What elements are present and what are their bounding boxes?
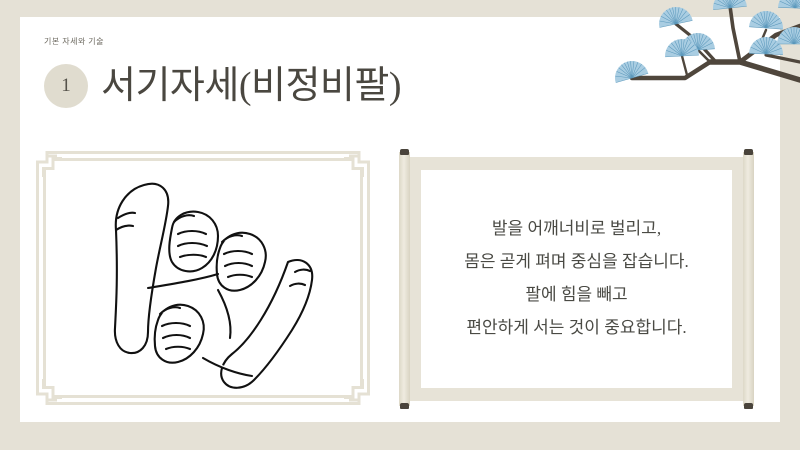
frame-line-outer-left: [36, 161, 39, 395]
description-text: 발을 어깨너비로 벌리고, 몸은 곧게 펴며 중심을 잡습니다. 팔에 힘을 빼…: [425, 212, 728, 345]
step-number-badge: 1: [44, 64, 88, 108]
post-cap-top-left-icon: [400, 149, 409, 155]
frame-line-inner-right: [360, 167, 363, 389]
board-post-right: [743, 152, 754, 406]
slide-root: 기본 자세와 기술 1 서기자세(비정비팔): [0, 0, 800, 450]
description-line: 팔에 힘을 빼고: [425, 278, 728, 311]
frame-line-outer-top: [46, 151, 360, 154]
description-line: 몸은 곧게 펴며 중심을 잡습니다.: [425, 245, 728, 278]
frame-line-outer-right: [367, 161, 370, 395]
eyebrow-label: 기본 자세와 기술: [44, 36, 104, 47]
description-line: 발을 어깨너비로 벌리고,: [425, 212, 728, 245]
frame-line-inner-top: [52, 158, 354, 161]
title-row: 1 서기자세(비정비팔): [44, 64, 401, 108]
frame-line-inner-bottom: [52, 395, 354, 398]
post-cap-top-right-icon: [744, 149, 753, 155]
frame-line-outer-bottom: [46, 402, 360, 405]
post-cap-bottom-right-icon: [744, 403, 753, 409]
frame-line-inner-left: [43, 167, 46, 389]
fists-illustration: [52, 168, 352, 390]
page-title: 서기자세(비정비팔): [101, 67, 401, 105]
post-cap-bottom-left-icon: [400, 403, 409, 409]
description-line: 편안하게 서는 것이 중요합니다.: [425, 311, 728, 344]
description-board: 발을 어깨너비로 벌리고, 몸은 곧게 펴며 중심을 잡습니다. 팔에 힘을 빼…: [399, 152, 754, 406]
board-post-left: [399, 152, 410, 406]
